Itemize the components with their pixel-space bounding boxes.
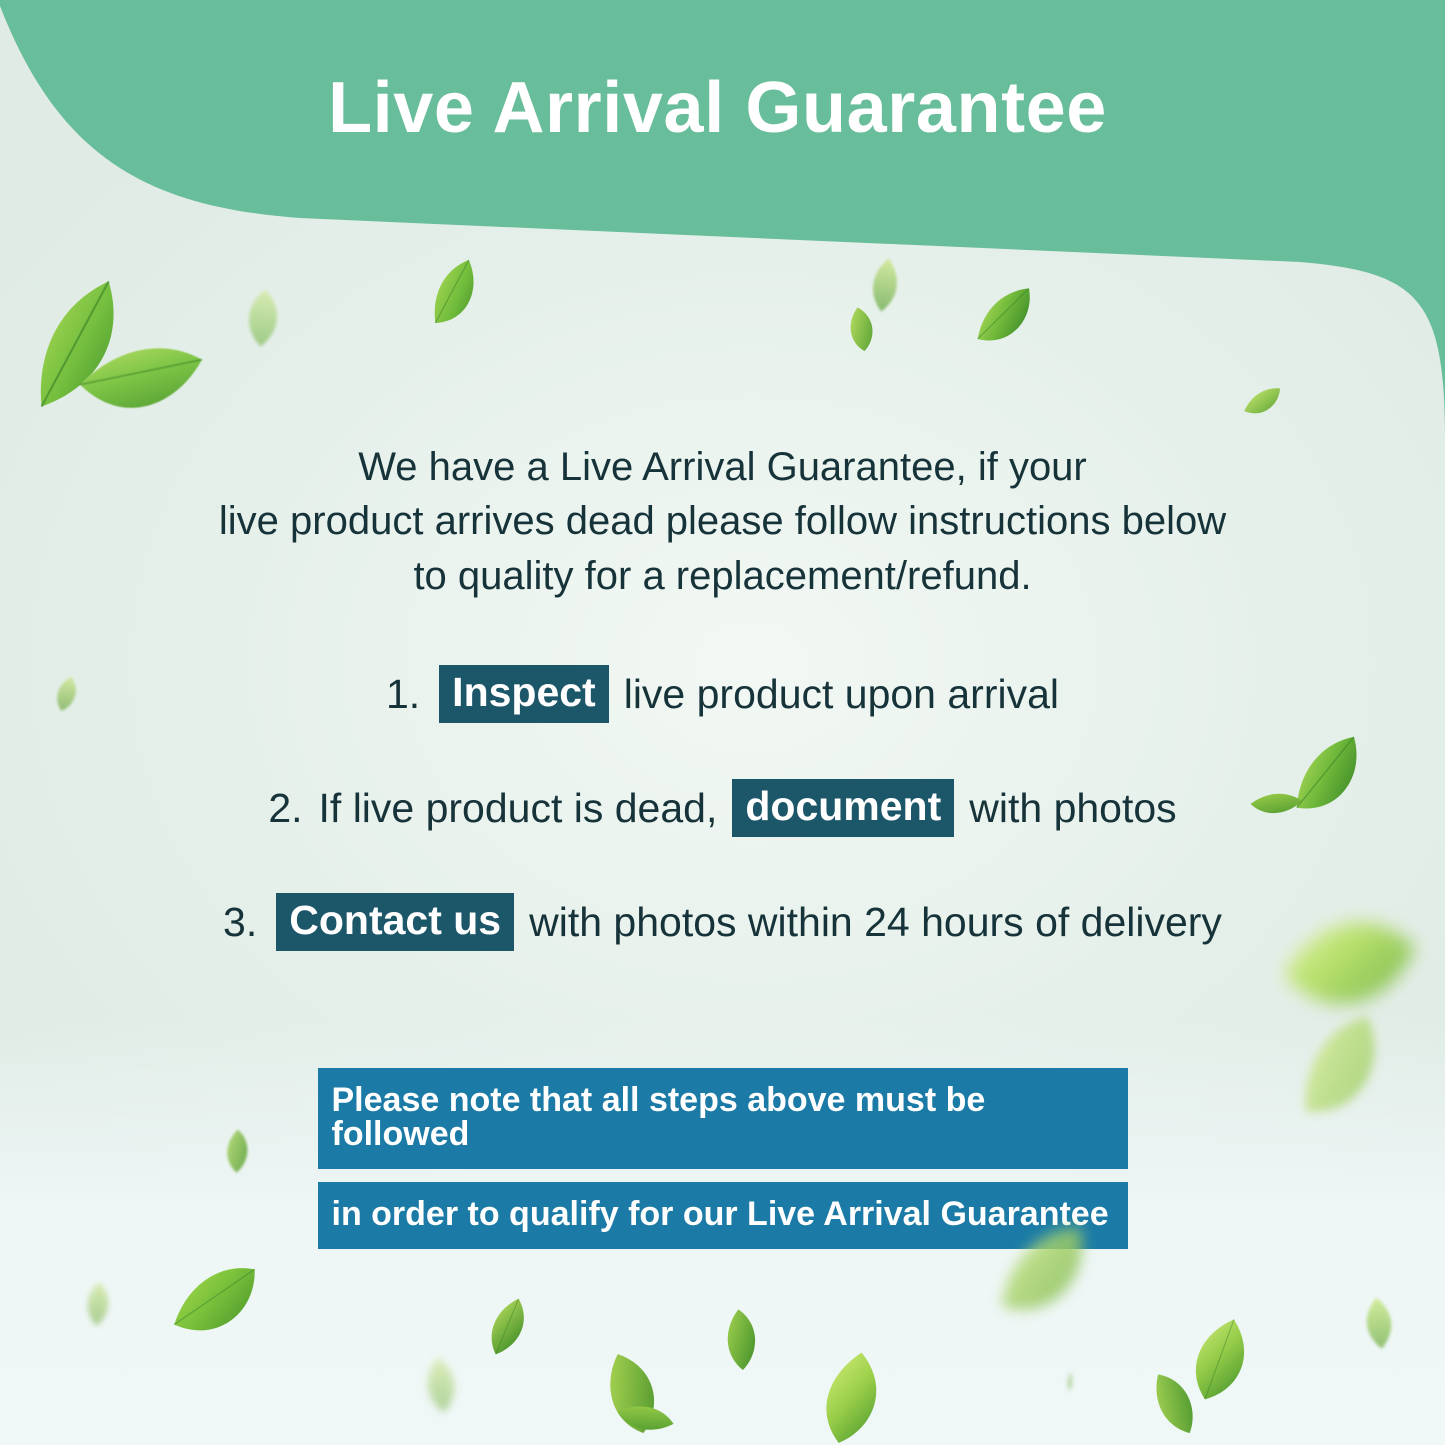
live-arrival-guarantee-poster: Live Arrival Guarantee We have a Live Ar…: [0, 0, 1445, 1445]
step-number: 1.: [386, 674, 420, 715]
step-text: with photos within 24 hours of delivery: [529, 902, 1222, 943]
step-item: 2. If live product is dead, document wit…: [0, 779, 1445, 837]
intro-line-1: We have a Live Arrival Guarantee, if you…: [133, 440, 1313, 494]
step-item: 1. Inspect live product upon arrival: [0, 665, 1445, 723]
step-text: live product upon arrival: [624, 674, 1059, 715]
step-highlight-document: document: [732, 779, 954, 837]
intro-line-3: to quality for a replacement/refund.: [133, 549, 1313, 603]
step-text: with photos: [969, 788, 1176, 829]
step-text: If live product is dead,: [319, 788, 718, 829]
intro-paragraph: We have a Live Arrival Guarantee, if you…: [133, 440, 1313, 603]
step-highlight-contact-us: Contact us: [276, 893, 514, 951]
step-highlight-inspect: Inspect: [439, 665, 609, 723]
step-number: 3.: [223, 902, 257, 943]
main-content: We have a Live Arrival Guarantee, if you…: [0, 440, 1445, 951]
step-item: 3. Contact us with photos within 24 hour…: [0, 893, 1445, 951]
note-bar-line-1: Please note that all steps above must be…: [318, 1068, 1128, 1169]
page-title: Live Arrival Guarantee: [0, 72, 1445, 144]
steps-list: 1. Inspect live product upon arrival 2. …: [0, 665, 1445, 951]
note-bar-line-2: in order to qualify for our Live Arrival…: [318, 1182, 1128, 1249]
intro-line-2: live product arrives dead please follow …: [133, 494, 1313, 548]
note-block: Please note that all steps above must be…: [0, 1068, 1445, 1249]
step-number: 2.: [268, 788, 302, 829]
